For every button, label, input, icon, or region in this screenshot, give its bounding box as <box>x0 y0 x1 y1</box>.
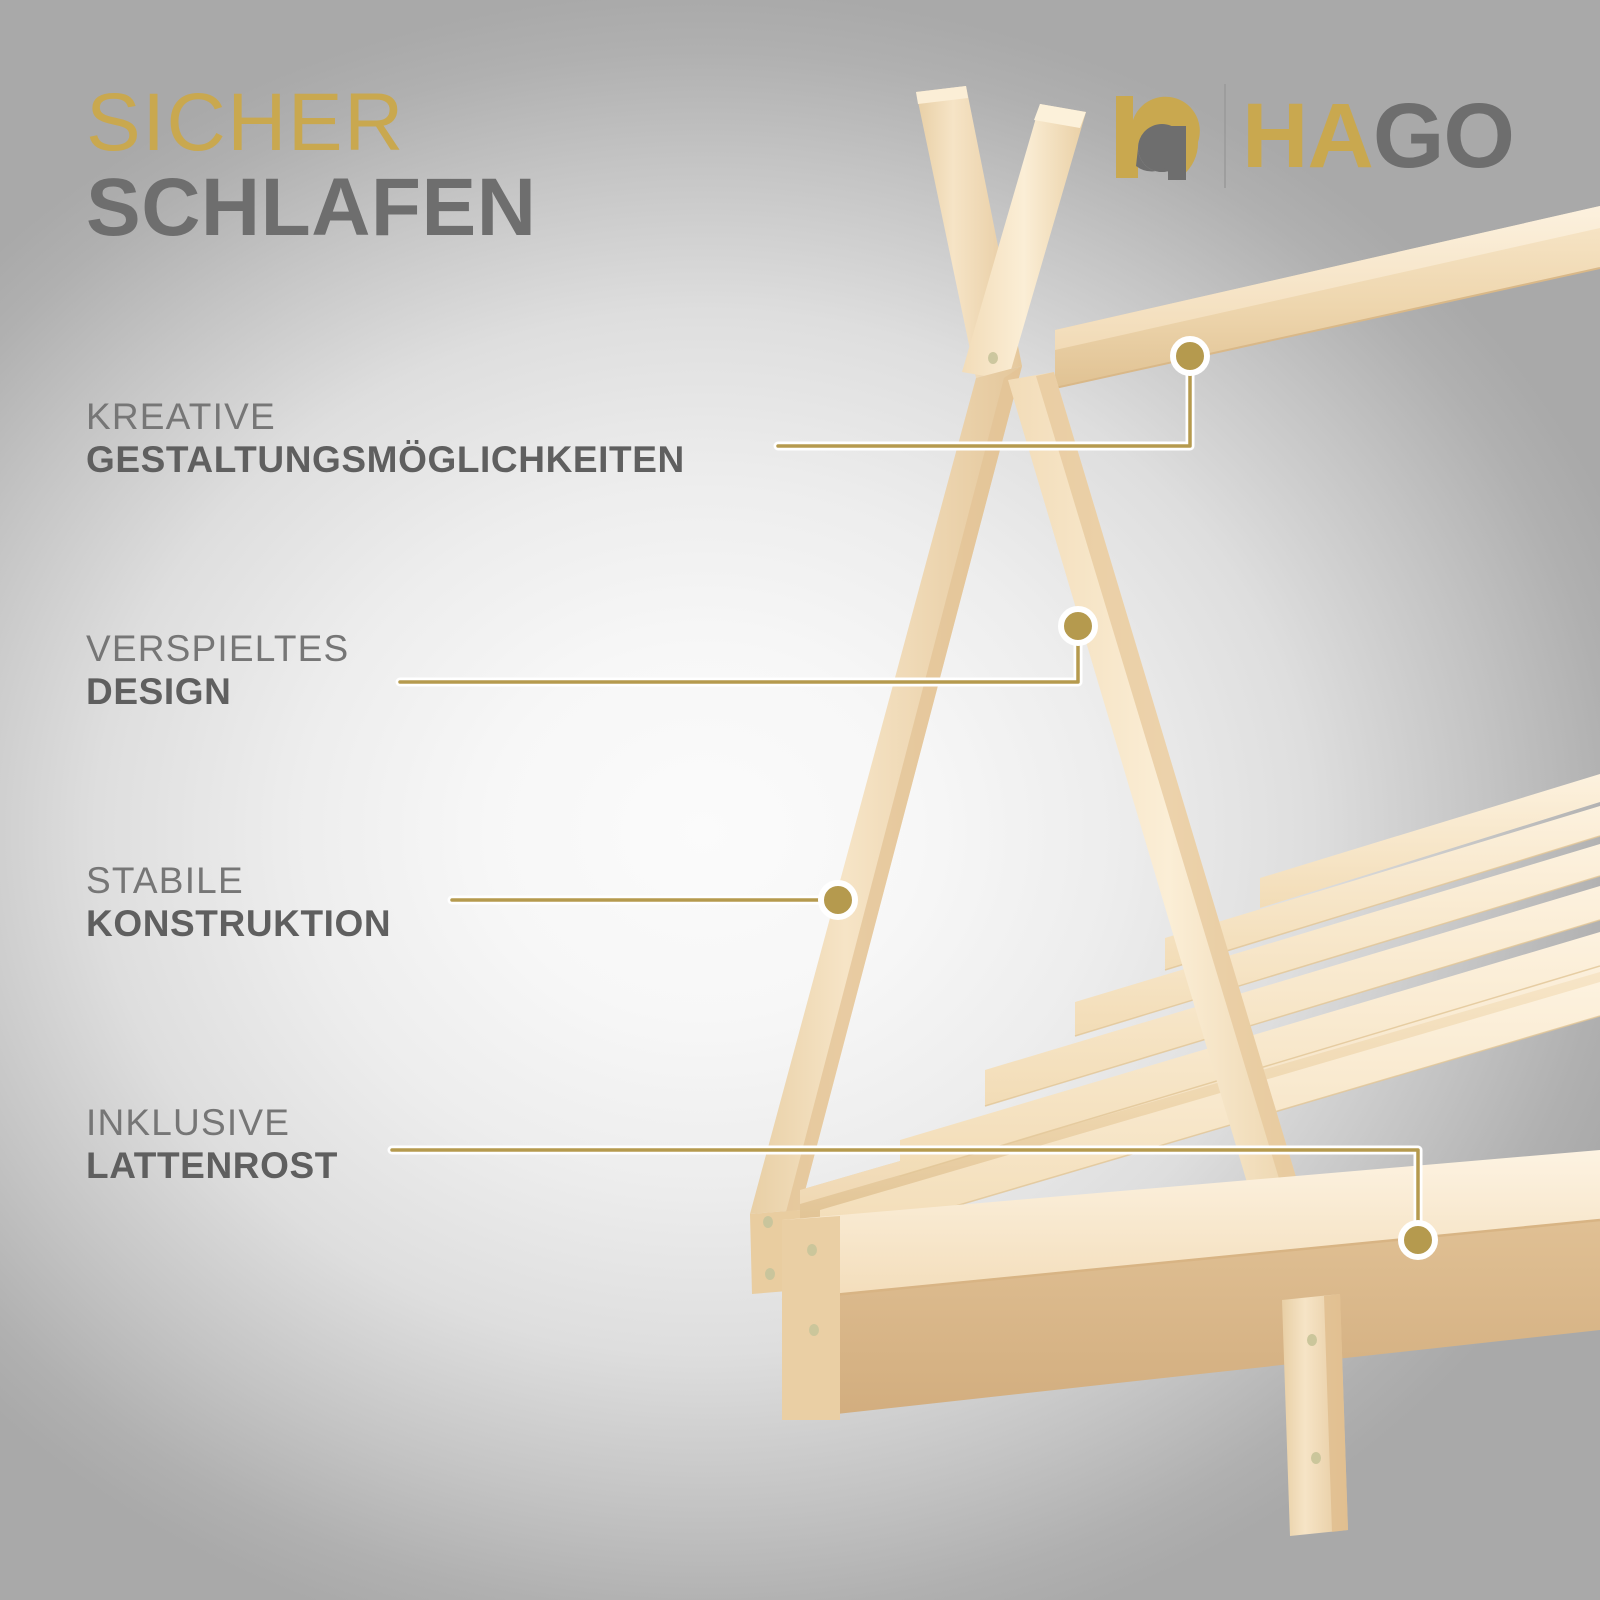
callout-dot-0 <box>1173 339 1207 373</box>
connector-outline-0 <box>778 356 1190 446</box>
callout-dot-2 <box>821 883 855 917</box>
callout-connector-lines <box>0 0 1600 1600</box>
connector-line-3 <box>392 1150 1418 1240</box>
callout-dot-1 <box>1061 609 1095 643</box>
infographic-canvas: SICHER SCHLAFEN HAGO KREATIVE GESTALTUNG… <box>0 0 1600 1600</box>
connector-line-0 <box>778 356 1190 446</box>
callout-dot-3 <box>1401 1223 1435 1257</box>
connector-outline-3 <box>392 1150 1418 1240</box>
connector-line-1 <box>400 626 1078 682</box>
connector-outline-1 <box>400 626 1078 682</box>
